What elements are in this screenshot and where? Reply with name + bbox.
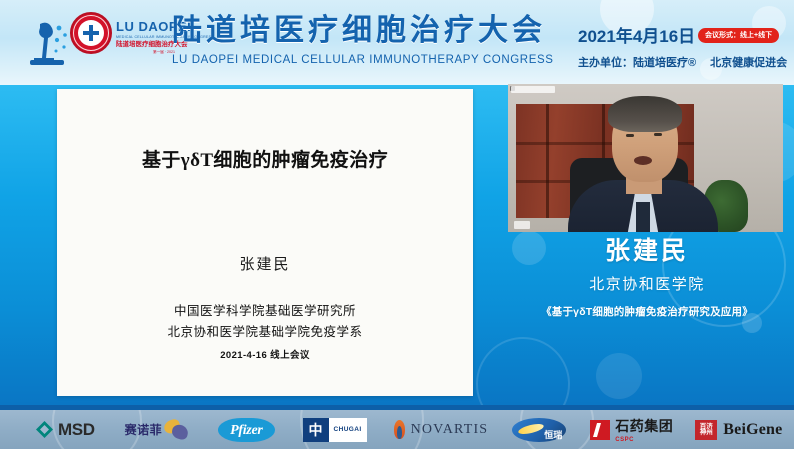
slide-affiliations: 中国医学科学院基础医学研究所 北京协和医学院基础学院免疫学系 (57, 301, 473, 343)
sponsor-label: MSD (58, 420, 95, 440)
video-person-hair (608, 96, 682, 132)
sponsor-label: 赛诺菲 (125, 421, 163, 438)
sponsor-beigene[interactable]: 百济神州 BeiGene (695, 410, 782, 449)
decorative-circle (596, 353, 642, 399)
beigene-seal-icon: 百济神州 (695, 420, 717, 440)
congress-title-cn: 陆道培医疗细胞治疗大会 (172, 14, 546, 48)
slide-meta: 2021-4-16 线上会议 (57, 347, 473, 361)
presentation-slide[interactable]: 基于γδT细胞的肿瘤免疫治疗 张建民 中国医学科学院基础医学研究所 北京协和医学… (57, 89, 473, 396)
video-corner-tag (514, 221, 530, 229)
speaker-video-feed[interactable] (508, 84, 783, 232)
sponsor-chugai[interactable]: 中 CHUGAI (303, 410, 367, 449)
speaker-name: 张建民 (500, 236, 794, 266)
sponsor-bar: MSD 赛诺菲 Pfizer 中 CHUGAI NOVARTIS (0, 410, 794, 449)
congress-date: 2021年4月16日 (578, 22, 695, 47)
speaker-organization: 北京协和医学院 (500, 275, 794, 295)
cspc-red-icon (590, 420, 610, 440)
sponsor-label: BeiGene (723, 421, 782, 439)
slide-title: 基于γδT细胞的肿瘤免疫治疗 (57, 145, 473, 172)
video-person-mouth (634, 156, 652, 165)
sponsor-novartis[interactable]: NOVARTIS (393, 410, 489, 449)
slide-affiliation-2: 北京协和医学院基础学院免疫学系 (57, 322, 473, 343)
sponsor-pfizer[interactable]: Pfizer (218, 410, 274, 449)
medical-cross-seal-icon (70, 12, 112, 54)
video-person-eye (654, 133, 662, 136)
sponsor-cspc[interactable]: 石药集团 CSPC (590, 410, 673, 449)
broadcast-stage: LU DAOPEI MEDICAL CELLULAR IMMUNOTHERAPY… (0, 0, 794, 449)
sponsor-sanofi[interactable]: 赛诺菲 (125, 410, 191, 449)
congress-logo: LU DAOPEI MEDICAL CELLULAR IMMUNOTHERAPY… (26, 12, 166, 74)
sponsor-msd[interactable]: MSD (36, 410, 95, 449)
congress-header: LU DAOPEI MEDICAL CELLULAR IMMUNOTHERAPY… (0, 0, 794, 85)
slide-affiliation-1: 中国医学科学院基础医学研究所 (57, 301, 473, 322)
format-badge: 会议形式：线上+线下 (698, 28, 779, 43)
video-person-tie (636, 202, 650, 232)
sponsor-hengrui[interactable]: 恒瑞 (512, 410, 566, 449)
pfizer-oval-icon: Pfizer (218, 418, 274, 442)
hengrui-oval-icon: 恒瑞 (512, 418, 566, 442)
slide-speaker-name: 张建民 (57, 253, 473, 274)
decorative-circle (476, 337, 570, 405)
video-person-eye (626, 134, 634, 137)
organizer-line: 主办单位：陆道培医疗®北京健康促进会 (578, 54, 787, 70)
sponsor-sublabel: CSPC (615, 437, 673, 443)
congress-title-en: LU DAOPEI MEDICAL CELLULAR IMMUNOTHERAPY… (172, 54, 554, 66)
speaker-topic: 《基于γδT细胞的肿瘤免疫治疗研究及应用》 (500, 305, 794, 320)
speaker-info-panel: 张建民 北京协和医学院 《基于γδT细胞的肿瘤免疫治疗研究及应用》 (500, 236, 794, 320)
sponsor-label: NOVARTIS (411, 422, 489, 438)
sponsor-label: 石药集团 (615, 416, 673, 436)
sanofi-swirl-icon (164, 420, 190, 440)
organizer-primary: 主办单位：陆道培医疗® (578, 57, 696, 69)
microscope-icon (26, 18, 72, 70)
novartis-flame-icon (393, 420, 406, 439)
chugai-logo-icon: 中 (303, 418, 329, 442)
msd-diamond-icon (36, 421, 53, 438)
sponsor-label: Pfizer (230, 423, 262, 438)
sponsor-label: CHUGAI (334, 426, 362, 433)
organizer-secondary: 北京健康促进会 (710, 57, 787, 69)
sponsor-label: 恒瑞 (544, 428, 562, 441)
video-name-tag (511, 86, 555, 93)
